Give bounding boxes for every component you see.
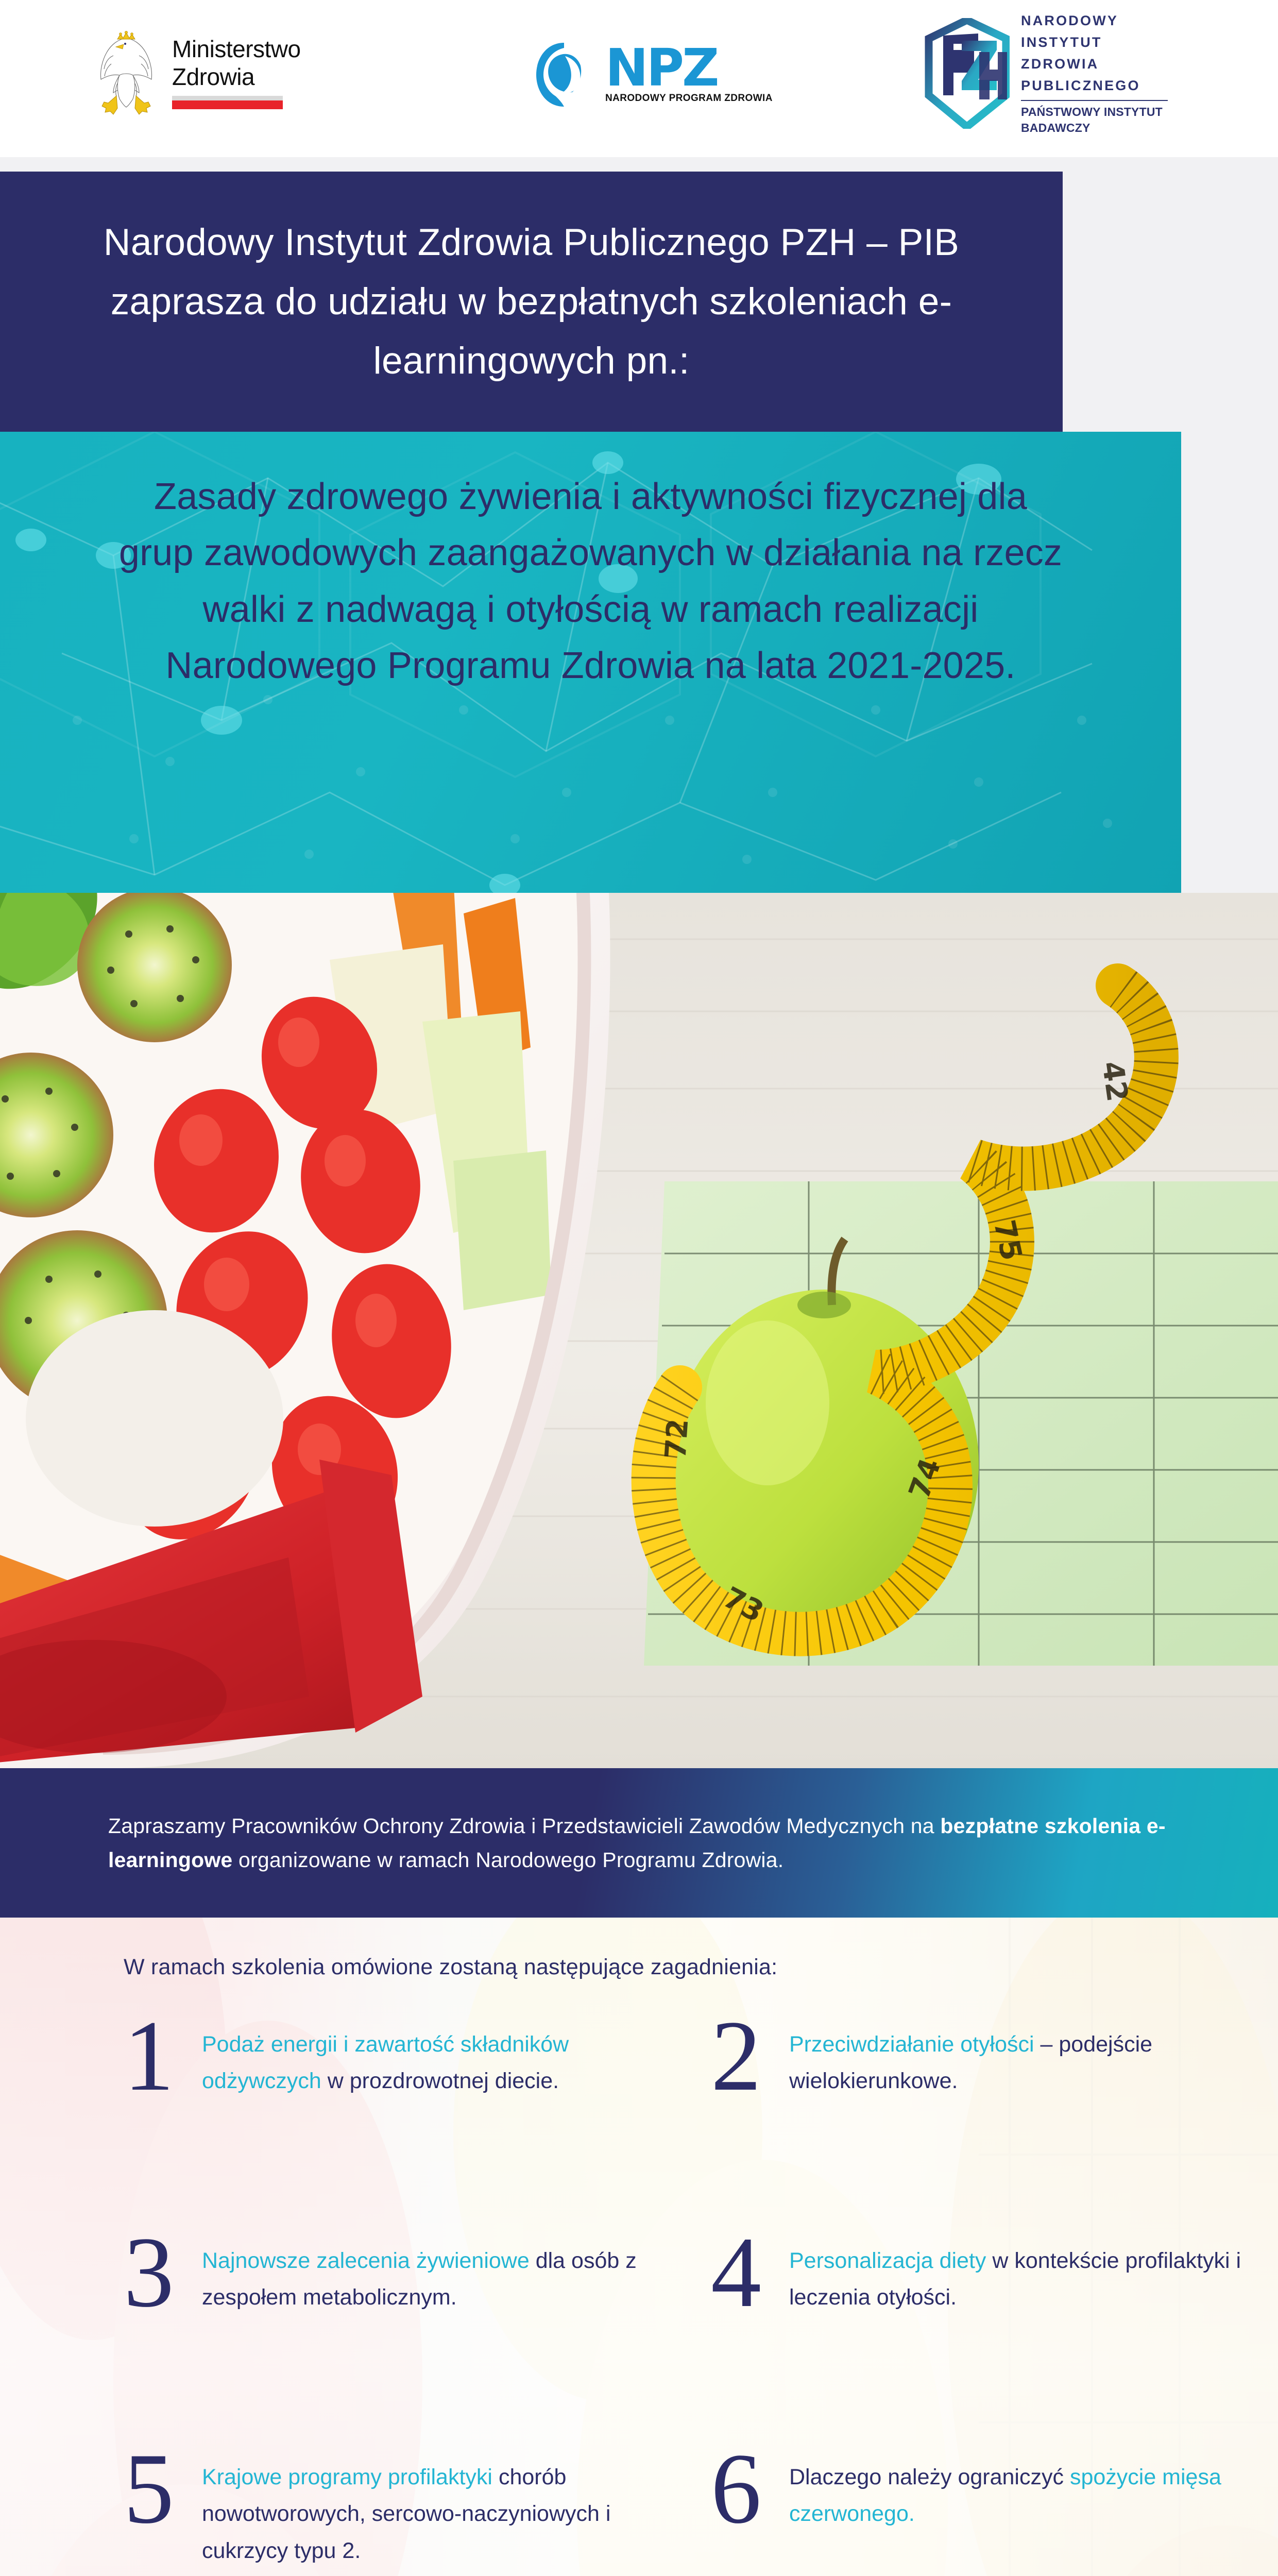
invitation-text: Zapraszamy Pracowników Ochrony Zdrowia i…: [0, 1809, 1278, 1877]
topic-text-teal: Przeciwdziałanie otyłości: [789, 2032, 1041, 2057]
training-title: Zasady zdrowego żywienia i aktywności fi…: [0, 432, 1181, 694]
topic-number: 3: [124, 2228, 202, 2317]
topics-grid: 1 Podaż energii i zawartość składników o…: [0, 2012, 1278, 2576]
pzh-line4: PUBLICZNEGO: [1021, 75, 1168, 97]
pzh-divider: [1021, 100, 1168, 101]
topic-item-6: 6 Dlaczego należy ograniczyć spożycie mi…: [711, 2445, 1267, 2576]
invitation-part1: Zapraszamy Pracowników Ochrony Zdrowia i…: [108, 1814, 940, 1838]
topic-text-teal: Najnowsze zalecenia żywieniowe: [202, 2248, 536, 2273]
nizp-pzh-pib-logo: NARODOWY INSTYTUT ZDROWIA PUBLICZNEGO PA…: [925, 11, 1213, 135]
topic-text-teal: Krajowe programy profilaktyki: [202, 2465, 499, 2489]
topic-number: 6: [711, 2445, 789, 2533]
topic-text: Dlaczego należy ograniczyć spożycie mięs…: [789, 2445, 1267, 2533]
pzh-sub1: PAŃSTWOWY INSTYTUT: [1021, 104, 1168, 120]
npz-logo: NPZ NARODOWY PROGRAM ZDROWIA: [533, 28, 775, 121]
topic-item-3: 3 Najnowsze zalecenia żywieniowe dla osó…: [124, 2228, 680, 2445]
npz-swirl-icon: [533, 39, 595, 111]
polish-flag-bar: [172, 96, 283, 109]
topics-intro: W ramach szkolenia omówione zostaną nast…: [0, 1918, 1278, 1980]
topic-text-teal: Personalizacja diety: [789, 2248, 992, 2273]
topic-text: Przeciwdziałanie otyłości – podejście wi…: [789, 2012, 1267, 2100]
topic-text: Personalizacja diety w kontekście profil…: [789, 2228, 1267, 2316]
headline-banner: Narodowy Instytut Zdrowia Publicznego PZ…: [0, 172, 1063, 432]
ministerstwo-zdrowia-logo: Ministerstwo Zdrowia: [93, 21, 309, 124]
topic-text: Najnowsze zalecenia żywieniowe dla osób …: [202, 2228, 680, 2316]
svg-text:42: 42: [1095, 1059, 1134, 1104]
pzh-sub2: BADAWCZY: [1021, 120, 1168, 136]
ministry-name-line1: Ministerstwo: [172, 35, 301, 63]
pzh-line2: INSTYTUT: [1021, 32, 1168, 54]
topic-text: Krajowe programy profilaktyki chorób now…: [202, 2445, 680, 2569]
topic-text-navy: Dlaczego należy ograniczyć: [789, 2465, 1070, 2489]
pzh-line3: ZDROWIA: [1021, 54, 1168, 75]
pzh-line1: NARODOWY: [1021, 10, 1168, 32]
training-title-panel: Zasady zdrowego żywienia i aktywności fi…: [0, 432, 1181, 893]
invitation-band: Zapraszamy Pracowników Ochrony Zdrowia i…: [0, 1768, 1278, 1918]
topic-item-1: 1 Podaż energii i zawartość składników o…: [124, 2012, 680, 2228]
topic-text-navy: w prozdrowotnej diecie.: [328, 2069, 559, 2093]
ministry-name-line2: Zdrowia: [172, 63, 301, 91]
topic-item-4: 4 Personalizacja diety w kontekście prof…: [711, 2228, 1267, 2445]
topic-text: Podaż energii i zawartość składników odż…: [202, 2012, 680, 2100]
topic-number: 1: [124, 2012, 202, 2100]
pzh-hexagon-icon: [925, 18, 1010, 129]
topic-number: 5: [124, 2445, 202, 2533]
topic-number: 2: [711, 2012, 789, 2100]
topics-section: W ramach szkolenia omówione zostaną nast…: [0, 1918, 1278, 2576]
polish-eagle-icon: [93, 26, 160, 118]
page-title: Narodowy Instytut Zdrowia Publicznego PZ…: [53, 213, 1011, 391]
npz-subtitle: NARODOWY PROGRAM ZDROWIA: [605, 93, 773, 104]
header-logo-bar: Ministerstwo Zdrowia NPZ NARODOWY PROGRA…: [0, 0, 1278, 157]
topic-item-5: 5 Krajowe programy profilaktyki chorób n…: [124, 2445, 680, 2576]
npz-acronym: NPZ: [605, 45, 718, 91]
svg-text:72: 72: [659, 1418, 695, 1460]
invitation-part2: organizowane w ramach Narodowego Program…: [232, 1848, 783, 1872]
topic-number: 4: [711, 2228, 789, 2317]
hero-photo: 42 75 74 73 72: [0, 893, 1278, 1768]
topic-item-2: 2 Przeciwdziałanie otyłości – podejście …: [711, 2012, 1267, 2228]
